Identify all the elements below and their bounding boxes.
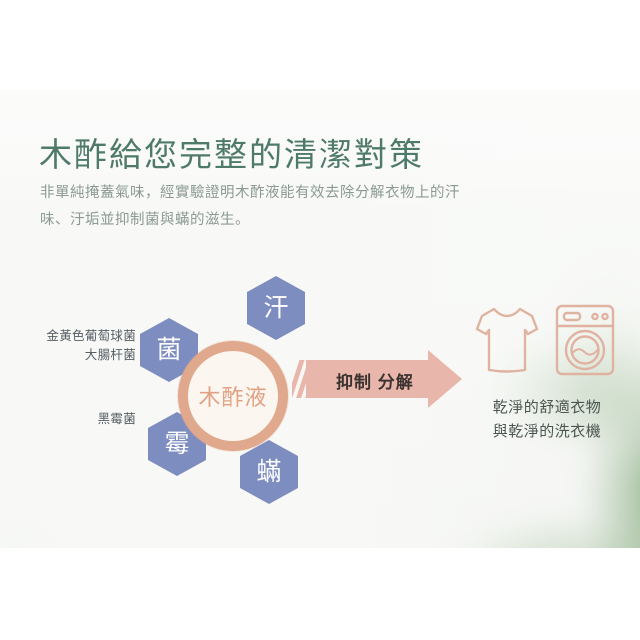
hexagon-mold-label: 霉 <box>164 432 189 457</box>
promo-banner: 木酢給您完整的清潔對策 非單純掩蓋氣味，經實驗證明木酢液能有效去除分解衣物上的汗… <box>0 0 640 640</box>
page-subtitle-line-2: 味、汙垢並抑制菌與蟎的滋生。 <box>40 207 500 234</box>
page-subtitle: 非單純掩蓋氣味，經實驗證明木酢液能有效去除分解衣物上的汗 味、汙垢並抑制菌與蟎的… <box>40 180 500 234</box>
bacteria-side-label-line-2: 大腸杆菌 <box>8 346 136 365</box>
effect-diagram: 金黃色葡萄球菌 大腸杆菌 黑霉菌 汗 菌 霉 蟎 木酢液 抑制 分解 <box>0 262 640 492</box>
center-circle-label: 木酢液 <box>198 380 267 412</box>
hexagon-bacteria-label: 菌 <box>156 338 181 363</box>
result-caption: 乾淨的舒適衣物 與乾淨的洗衣機 <box>452 396 640 444</box>
result-icons-svg <box>462 300 622 380</box>
hexagon-sweat: 汗 <box>247 276 305 340</box>
bacteria-side-label-line-1: 金黃色葡萄球菌 <box>8 327 136 346</box>
bacteria-side-label: 金黃色葡萄球菌 大腸杆菌 <box>8 327 136 365</box>
mold-side-label: 黑霉菌 <box>40 410 136 429</box>
hexagon-mite-label: 蟎 <box>256 460 281 485</box>
hexagon-sweat-label: 汗 <box>263 296 288 321</box>
result-caption-line-1: 乾淨的舒適衣物 <box>452 396 640 420</box>
tshirt-icon <box>477 309 537 372</box>
arrow-label: 抑制 分解 <box>336 368 414 393</box>
center-circle: 木酢液 <box>178 341 288 451</box>
result-caption-line-2: 與乾淨的洗衣機 <box>452 420 640 444</box>
page-title: 木酢給您完整的清潔對策 <box>39 128 424 176</box>
page-subtitle-line-1: 非單純掩蓋氣味，經實驗證明木酢液能有效去除分解衣物上的汗 <box>40 180 500 207</box>
washing-machine-icon <box>557 306 613 374</box>
result-icons <box>462 300 622 380</box>
effect-arrow: 抑制 分解 <box>292 350 467 410</box>
